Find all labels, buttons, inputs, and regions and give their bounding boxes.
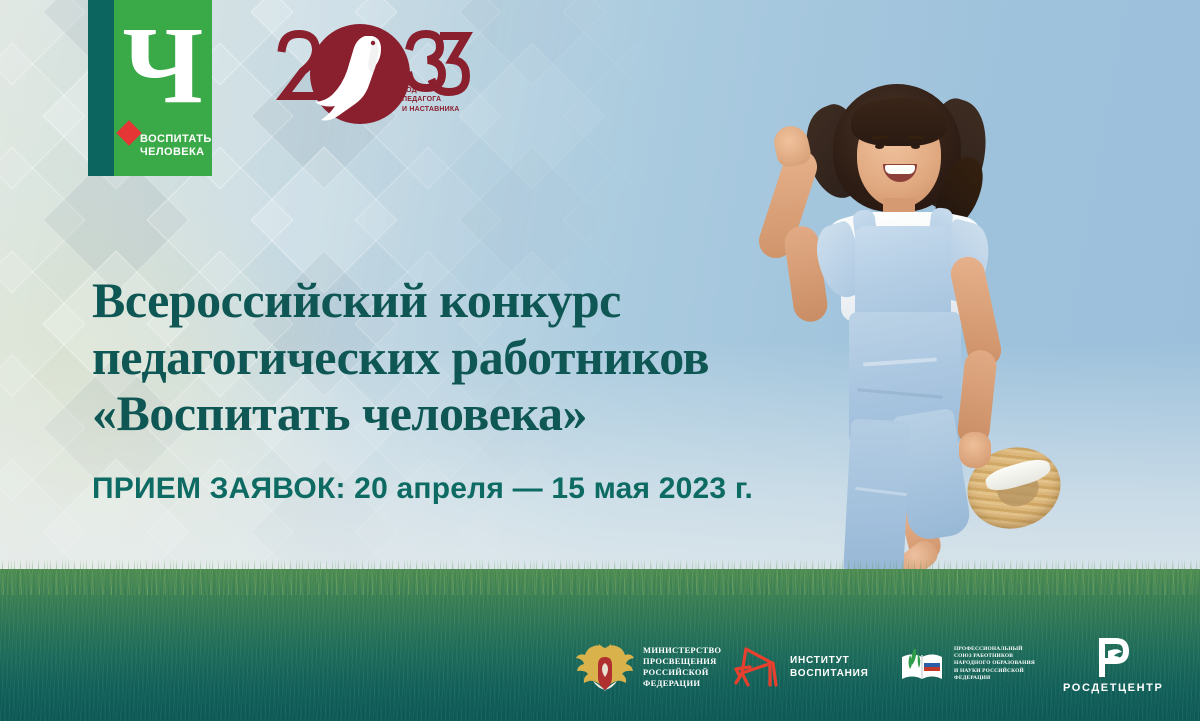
application-dates: ПРИЕМ ЗАЯВОК: 20 апреля — 15 мая 2023 г. <box>92 472 753 506</box>
institute-line-1: ИНСТИТУТ <box>790 654 869 667</box>
open-book-leaf-icon <box>898 641 946 687</box>
logo-side-strip <box>88 0 114 176</box>
partner-rosdetcentr-label: РОСДЕТЦЕНТР <box>1063 681 1163 695</box>
ministry-line-4: ФЕДЕРАЦИИ <box>643 678 721 689</box>
union-line-4: И НАУКИ РОССИЙСКОЙ <box>954 668 1035 675</box>
brand-logo[interactable]: Ч ВОСПИТАТЬ ЧЕЛОВЕКА <box>88 0 212 176</box>
partner-union-label: ПРОФЕССИОНАЛЬНЫЙ СОЮЗ РАБОТНИКОВ НАРОДНО… <box>954 646 1035 681</box>
r-monogram-icon <box>1094 637 1132 677</box>
year-emblem-graphic <box>268 22 480 140</box>
partner-ministry-of-education[interactable]: МИНИСТЕРСТВО ПРОСВЕЩЕНИЯ РОССИЙСКОЙ ФЕДЕ… <box>575 641 721 693</box>
emblem-caption-line3: И НАСТАВНИКА <box>402 105 460 114</box>
hair-fringe <box>851 98 947 146</box>
trouser-left <box>843 419 911 582</box>
partner-trade-union[interactable]: ПРОФЕССИОНАЛЬНЫЙ СОЮЗ РАБОТНИКОВ НАРОДНО… <box>898 641 1035 687</box>
partner-ministry-label: МИНИСТЕРСТВО ПРОСВЕЩЕНИЯ РОССИЙСКОЙ ФЕДЕ… <box>643 645 721 689</box>
ministry-line-2: ПРОСВЕЩЕНИЯ <box>643 656 721 667</box>
union-line-3: НАРОДНОГО ОБРАЗОВАНИЯ <box>954 660 1035 667</box>
title-line-1: Всероссийский конкурс <box>92 272 792 329</box>
partner-institute-of-upbringing[interactable]: ИНСТИТУТ ВОСПИТАНИЯ <box>730 643 869 691</box>
hand-right <box>959 432 991 468</box>
emblem-caption-line2: ПЕДАГОГА <box>402 95 460 104</box>
double-headed-eagle-icon <box>575 641 635 693</box>
eye-right <box>911 144 920 149</box>
logo-letter-ch: Ч <box>114 10 212 120</box>
emblem-caption-line1: ГОД <box>402 86 460 95</box>
partner-logos: МИНИСТЕРСТВО ПРОСВЕЩЕНИЯ РОССИЙСКОЙ ФЕДЕ… <box>0 633 1200 703</box>
title-line-2: педагогических работников <box>92 329 792 386</box>
logo-caption: ВОСПИТАТЬ ЧЕЛОВЕКА <box>140 133 212 161</box>
logo-caption-line2: ЧЕЛОВЕКА <box>140 146 212 160</box>
eye-left <box>875 144 884 149</box>
page-title: Всероссийский конкурс педагогических раб… <box>92 272 792 442</box>
title-line-3: «Воспитать человека» <box>92 385 792 442</box>
girl-running-photo <box>745 60 1065 620</box>
year-emblem-caption: ГОД ПЕДАГОГА И НАСТАВНИКА <box>402 86 460 114</box>
union-line-1: ПРОФЕССИОНАЛЬНЫЙ <box>954 646 1035 653</box>
logo-caption-line1: ВОСПИТАТЬ <box>140 133 212 147</box>
promotional-banner: Ч ВОСПИТАТЬ ЧЕЛОВЕКА ГОД ПЕДАГОГА И НАСТ… <box>0 0 1200 721</box>
year-2023-emblem[interactable]: ГОД ПЕДАГОГА И НАСТАВНИКА <box>268 22 480 140</box>
union-line-2: СОЮЗ РАБОТНИКОВ <box>954 653 1035 660</box>
ministry-line-3: РОССИЙСКОЙ <box>643 667 721 678</box>
institute-line-2: ВОСПИТАНИЯ <box>790 667 869 680</box>
ministry-line-1: МИНИСТЕРСТВО <box>643 645 721 656</box>
partner-institute-label: ИНСТИТУТ ВОСПИТАНИЯ <box>790 654 869 680</box>
partner-rosdetcentr[interactable]: РОСДЕТЦЕНТР <box>1063 637 1163 695</box>
red-line-figure-icon <box>730 643 782 691</box>
logo-green-panel: Ч ВОСПИТАТЬ ЧЕЛОВЕКА <box>114 0 212 176</box>
union-line-5: ФЕДЕРАЦИИ <box>954 675 1035 682</box>
